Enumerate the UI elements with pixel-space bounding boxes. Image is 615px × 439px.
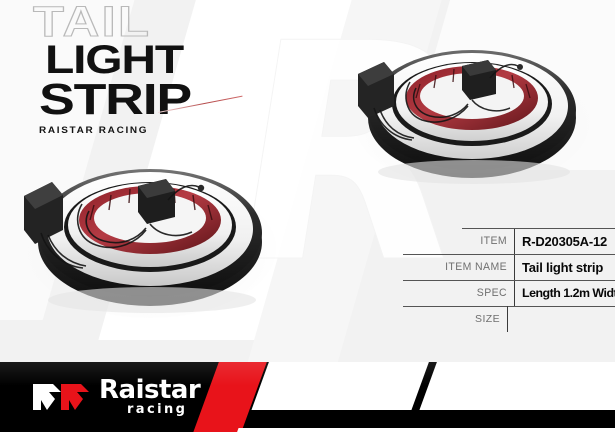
headline-block: TAIL LIGHT STRIP RAISTAR RACING [33, 2, 263, 136]
brand-name: Raistar [99, 378, 200, 403]
headline-subtitle: RAISTAR RACING [39, 125, 274, 136]
product-image-canvas: R TAIL LIGHT STRIP RAISTAR RACING [0, 0, 615, 439]
brand-tagline: racing [127, 403, 200, 417]
spec-label-item: ITEM [403, 227, 514, 254]
product-photo-right [350, 22, 600, 197]
headline-strip: STRIP [39, 79, 312, 120]
double-r-logo-icon [31, 380, 93, 414]
spec-table: ITEM R-D20305A-12 ITEM NAME Tail light s… [403, 228, 615, 332]
spec-row-item-name: ITEM NAME Tail light strip [403, 254, 615, 280]
spec-label-spec: SPEC [403, 279, 514, 306]
headline-light: LIGHT [45, 42, 307, 79]
brand-logo-text: Raistar racing [99, 378, 200, 417]
spec-label-size: SIZE [403, 306, 507, 332]
footer-strip [0, 432, 615, 439]
product-photo-left [18, 140, 283, 325]
table-divider-stub [507, 306, 508, 332]
spec-label-item-name: ITEM NAME [403, 253, 514, 280]
spec-row-item: ITEM R-D20305A-12 [403, 228, 615, 254]
spec-value-item-name: Tail light strip [514, 254, 615, 280]
spec-value-item: R-D20305A-12 [514, 228, 615, 254]
spec-row-spec: SPEC Length 1.2m Width 3.5cm [403, 280, 615, 306]
headline-tail: TAIL [33, 2, 304, 42]
spec-value-spec: Length 1.2m Width 3.5cm [514, 280, 615, 306]
